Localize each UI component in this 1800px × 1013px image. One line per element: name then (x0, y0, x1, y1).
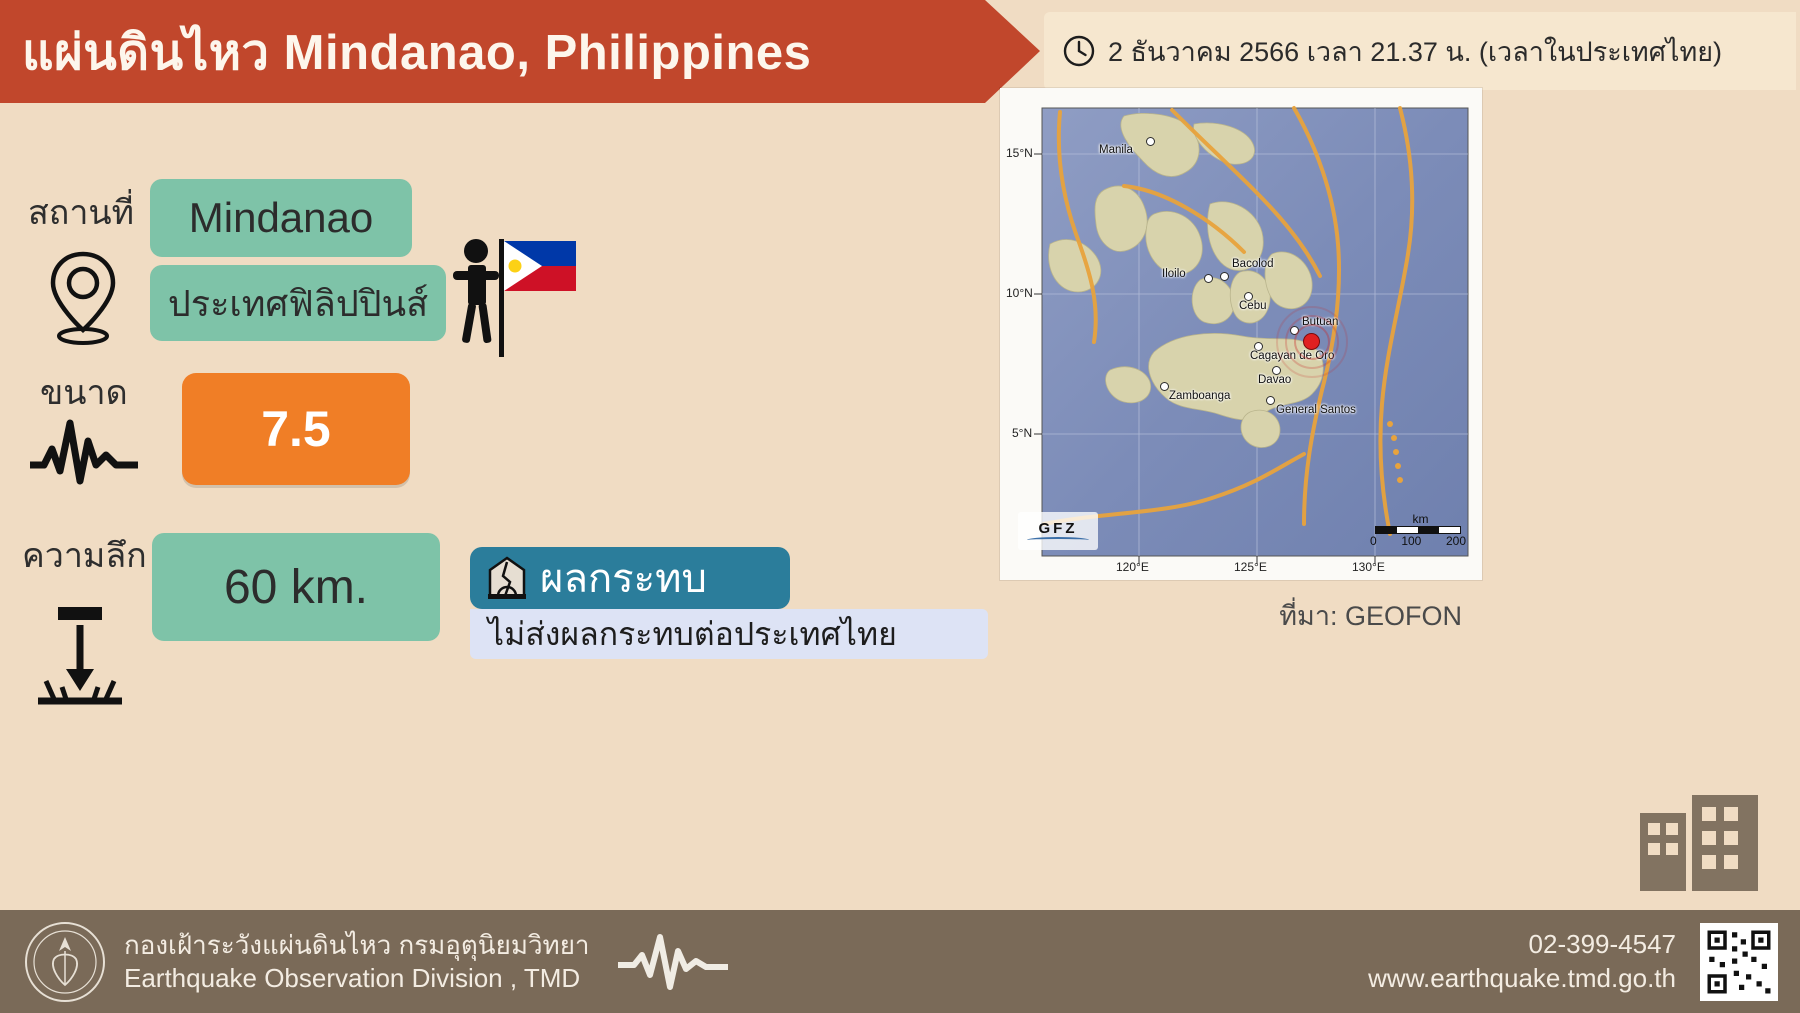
map-canvas: 15°N 10°N 5°N 120°E 125°E 130°E Manila I… (1004, 94, 1478, 576)
city-label-manila: Manila (1099, 144, 1133, 156)
earthquake-map: 15°N 10°N 5°N 120°E 125°E 130°E Manila I… (1000, 88, 1482, 580)
datetime-chip: 2 ธันวาคม 2566 เวลา 21.37 น. (เวลาในประเ… (1044, 12, 1796, 90)
impact-body: ไม่ส่งผลกระทบต่อประเทศไทย (470, 609, 988, 659)
epicenter-marker (1303, 333, 1320, 350)
philippines-flag-icon (445, 231, 580, 359)
map-lat-label-15n: 15°N (1006, 146, 1033, 160)
impact-body-text: ไม่ส่งผลกระทบต่อประเทศไทย (488, 609, 897, 660)
city-label-general-santos: General Santos (1276, 404, 1356, 416)
gfz-arc (1027, 537, 1089, 543)
city-dot (1160, 382, 1169, 391)
magnitude-value: 7.5 (182, 373, 410, 485)
map-lon-label-130e: 130°E (1352, 560, 1385, 574)
location-pin-icon (40, 248, 126, 348)
scalebar-tick-200: 200 (1446, 534, 1466, 548)
city-label-cebu: Cebu (1239, 300, 1267, 312)
map-lon-label-120e: 120°E (1116, 560, 1149, 574)
page-title: แผ่นดินไหว Mindanao, Philippines (0, 13, 811, 91)
footer: กองเฝ้าระวังแผ่นดินไหว กรมอุตุนิยมวิทยา … (0, 910, 1800, 1013)
magnitude-label: ขนาด (40, 365, 128, 419)
footer-url[interactable]: www.earthquake.tmd.go.th (1368, 962, 1676, 996)
scalebar-numbers: 0 100 200 (1370, 534, 1466, 548)
map-lat-label-10n: 10°N (1006, 286, 1033, 300)
map-source-credit: ที่มา: GEOFON (1000, 594, 1482, 637)
impact-heading-text: ผลกระทบ (540, 546, 707, 610)
footer-org-th: กองเฝ้าระวังแผ่นดินไหว กรมอุตุนิยมวิทยา (124, 929, 590, 962)
event-datetime: 2 ธันวาคม 2566 เวลา 21.37 น. (เวลาในประเ… (1108, 30, 1722, 73)
city-label-bacolod: Bacolod (1232, 258, 1274, 270)
seismograph-wave-icon (30, 415, 138, 491)
map-scalebar: km 0 100 200 (1375, 512, 1466, 548)
clock-icon (1062, 34, 1096, 68)
city-label-davao: Davao (1258, 374, 1291, 386)
scalebar-unit: km (1375, 512, 1466, 526)
footer-contact: 02-399-4547 www.earthquake.tmd.go.th (1368, 928, 1676, 996)
footer-org: กองเฝ้าระวังแผ่นดินไหว กรมอุตุนิยมวิทยา … (124, 929, 590, 994)
info-panel: สถานที่ Mindanao ประเทศฟิลิปปินส์ ขนาด 7… (0, 103, 1000, 903)
place-label: สถานที่ (28, 185, 134, 239)
city-label-zamboanga: Zamboanga (1169, 390, 1230, 402)
gfz-logo: GFZ (1018, 512, 1098, 550)
cracked-building-icon (486, 556, 528, 600)
tmd-seal-icon (24, 921, 106, 1003)
impact-heading: ผลกระทบ (470, 547, 790, 609)
depth-arrow-icon (28, 603, 132, 707)
city-dot (1266, 396, 1275, 405)
seismograph-wave-icon (618, 933, 728, 991)
city-label-iloilo: Iloilo (1162, 268, 1186, 280)
city-dot (1220, 272, 1229, 281)
depth-label: ความลึก (22, 528, 147, 582)
header: แผ่นดินไหว Mindanao, Philippines 2 ธันวา… (0, 0, 1800, 103)
scalebar-bar (1375, 526, 1461, 534)
qr-code-icon[interactable] (1700, 923, 1778, 1001)
footer-phone: 02-399-4547 (1368, 928, 1676, 962)
country-value: ประเทศฟิลิปปินส์ (150, 265, 446, 341)
map-lat-label-5n: 5°N (1012, 426, 1032, 440)
map-lon-label-125e: 125°E (1234, 560, 1267, 574)
header-ribbon: แผ่นดินไหว Mindanao, Philippines (0, 0, 1040, 103)
gfz-logo-text: GFZ (1039, 520, 1078, 537)
footer-org-en: Earthquake Observation Division , TMD (124, 962, 590, 995)
place-value: Mindanao (150, 179, 412, 257)
depth-value: 60 km. (152, 533, 440, 641)
scalebar-tick-100: 100 (1401, 534, 1421, 548)
city-dot (1204, 274, 1213, 283)
damaged-building-icon (1634, 787, 1764, 895)
scalebar-tick-0: 0 (1370, 534, 1377, 548)
city-dot (1146, 137, 1155, 146)
